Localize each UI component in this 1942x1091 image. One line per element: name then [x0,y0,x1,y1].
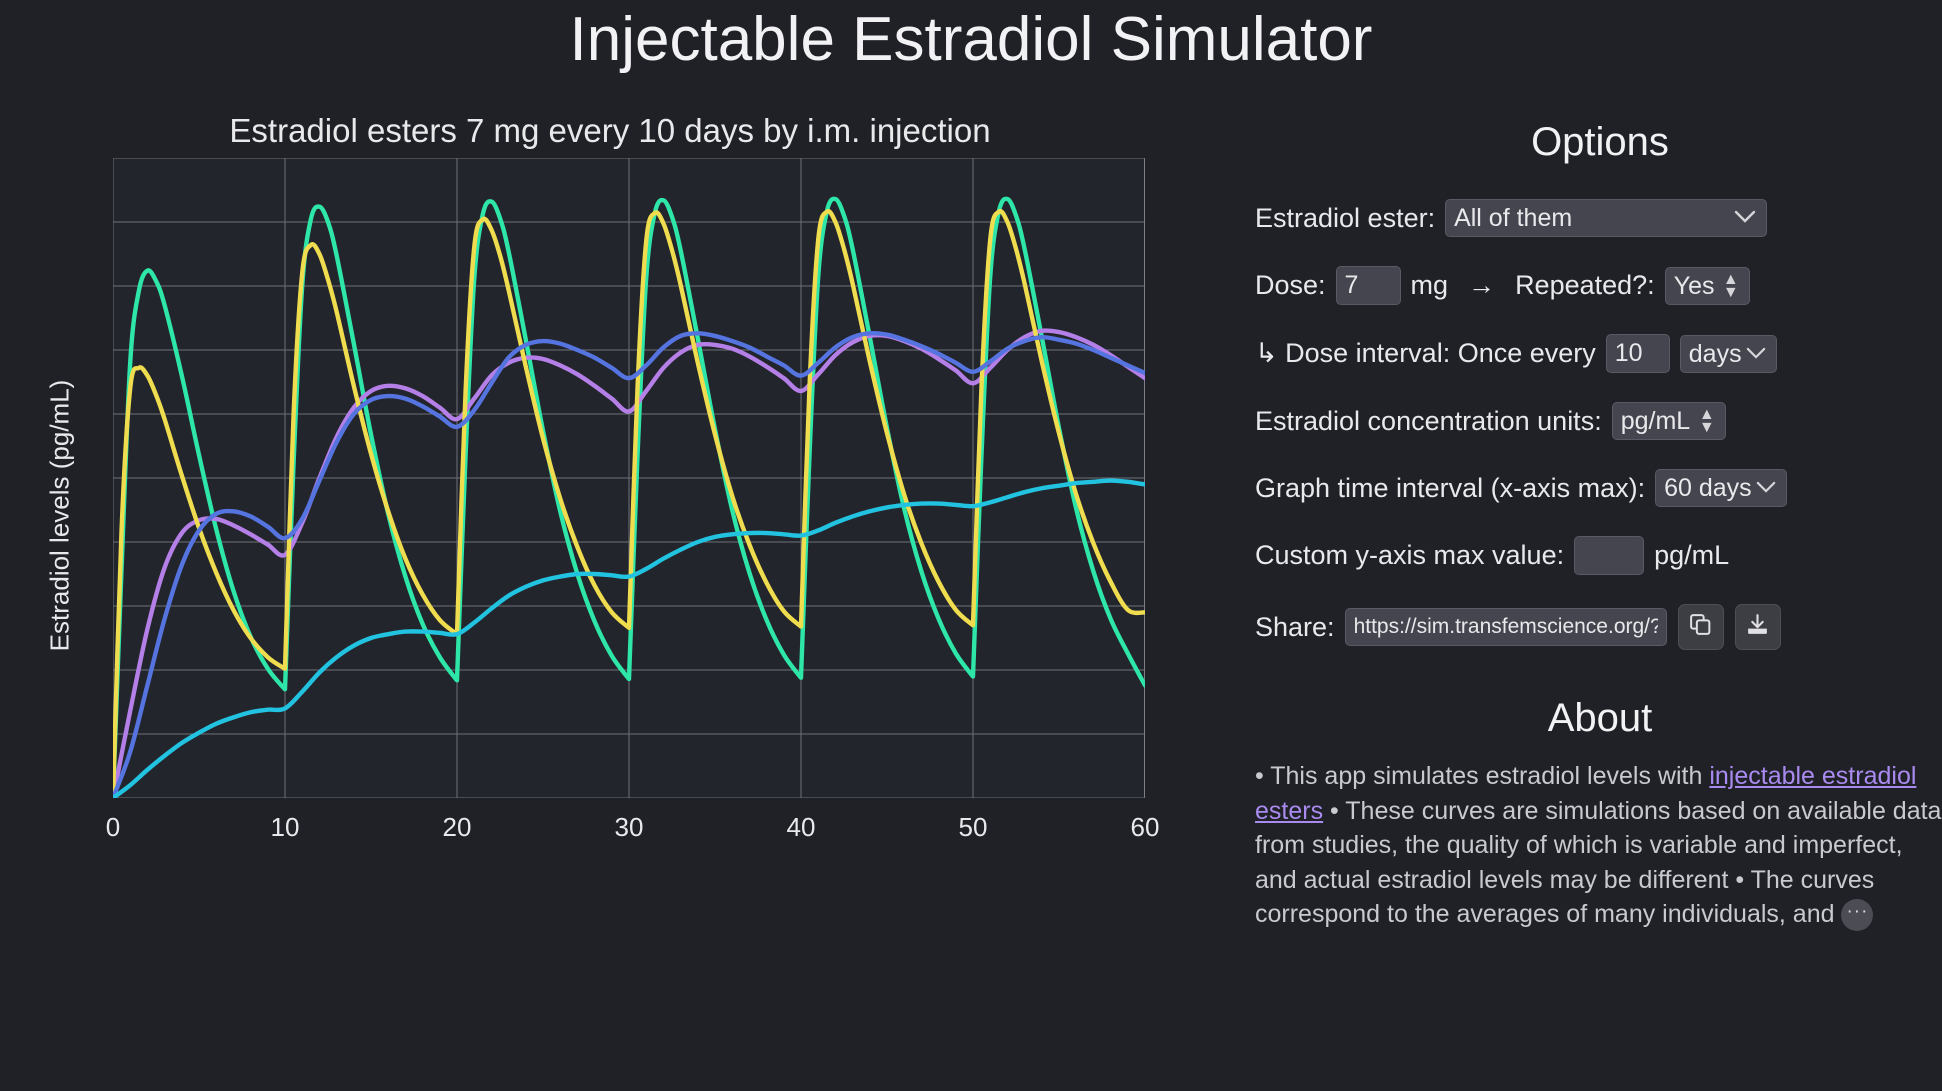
download-icon [1745,612,1770,642]
x-tick-label: 0 [53,812,173,843]
arrow-icon: → [1468,270,1495,301]
share-url-input[interactable] [1345,608,1667,646]
chart-title: Estradiol esters 7 mg every 10 days by i… [60,112,1160,150]
app-root: Injectable Estradiol Simulator Estradiol… [0,0,1942,1091]
custom-ymax-unit-label: pg/mL [1654,540,1729,571]
x-tick-label: 10 [225,812,345,843]
row-estradiol-ester: Estradiol ester: All of them [1255,199,1942,237]
repeated-select[interactable]: Yes [1665,267,1750,305]
plot-area [113,158,1145,798]
repeated-select-wrap: Yes ▲▼ [1665,267,1750,305]
interval-unit-select[interactable]: days [1680,335,1777,373]
about-text: • This app simulates estradiol levels wi… [1255,759,1942,932]
graph-time-interval-label: Graph time interval (x-axis max): [1255,473,1645,504]
dose-unit-label: mg [1411,270,1449,301]
row-custom-ymax: Custom y-axis max value: pg/mL [1255,536,1942,575]
x-tick-label: 40 [741,812,861,843]
custom-ymax-label: Custom y-axis max value: [1255,540,1564,571]
y-axis-label: Estradiol levels (pg/mL) [45,316,76,716]
about-text-part1: • This app simulates estradiol levels wi… [1255,762,1709,790]
dose-input[interactable] [1336,266,1401,305]
x-tick-label: 20 [397,812,517,843]
about-heading: About [1255,696,1942,741]
dose-interval-input[interactable] [1606,334,1670,373]
x-tick-label: 60 [1085,812,1205,843]
x-tick-label: 30 [569,812,689,843]
concentration-units-select[interactable]: pg/mL [1612,402,1726,440]
concentration-units-label: Estradiol concentration units: [1255,406,1602,437]
graph-time-interval-select-wrap: 60 days [1655,469,1787,507]
row-graph-time-interval: Graph time interval (x-axis max): 60 day… [1255,469,1942,507]
row-concentration-units: Estradiol concentration units: pg/mL ▲▼ [1255,402,1942,440]
interval-unit-select-wrap: days [1680,335,1777,373]
chart-container: Estradiol esters 7 mg every 10 days by i… [0,100,1180,1090]
options-panel: Options Estradiol ester: All of them Dos… [1255,120,1942,932]
estradiol-ester-label: Estradiol ester: [1255,203,1435,234]
share-label: Share: [1255,612,1335,643]
graph-time-interval-select[interactable]: 60 days [1655,469,1787,507]
row-share: Share: [1255,604,1942,650]
plot-svg [113,158,1145,798]
estradiol-ester-select[interactable]: All of them [1445,199,1767,237]
dose-interval-label: ↳ Dose interval: Once every [1255,338,1596,369]
page-title: Injectable Estradiol Simulator [0,4,1942,75]
row-dose-interval: ↳ Dose interval: Once every days [1255,334,1942,373]
about-text-part2: • These curves are simulations based on … [1255,797,1941,929]
options-heading: Options [1255,120,1942,165]
download-image-button[interactable] [1735,604,1781,650]
custom-ymax-input[interactable] [1574,536,1644,575]
x-tick-label: 50 [913,812,1033,843]
row-dose: Dose: mg → Repeated?: Yes ▲▼ [1255,266,1942,305]
copy-link-button[interactable] [1678,604,1724,650]
concentration-units-select-wrap: pg/mL ▲▼ [1612,402,1726,440]
show-more-button[interactable]: ··· [1841,899,1873,931]
estradiol-ester-select-wrap: All of them [1445,199,1767,237]
repeated-label: Repeated?: [1515,270,1655,301]
copy-icon [1688,612,1713,642]
dose-label: Dose: [1255,270,1326,301]
